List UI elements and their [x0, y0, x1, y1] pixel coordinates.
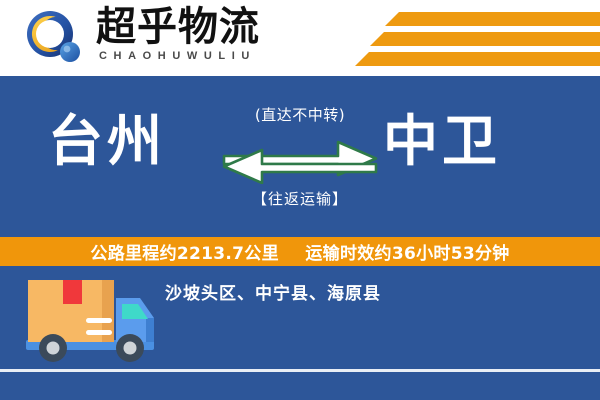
header: 超乎物流 CHAOHUWULIU	[0, 0, 600, 76]
brand-pinyin: CHAOHUWULIU	[99, 50, 256, 62]
round-trip-note: 【往返运输】	[218, 188, 382, 209]
direct-route-note: (直达不中转)	[218, 104, 382, 125]
info-bar: 公路里程约2213.7公里 运输时效约36小时53分钟	[0, 237, 600, 266]
info-bar-text: 公路里程约2213.7公里 运输时效约36小时53分钟	[90, 239, 509, 264]
header-stripe-2	[370, 32, 600, 46]
road-line-icon	[0, 369, 600, 372]
circle-crescent-logo-icon	[25, 10, 87, 66]
header-stripe-1	[385, 12, 600, 26]
route-middle: (直达不中转) 【往返运输】	[218, 104, 382, 229]
origin-city: 台州	[48, 109, 166, 173]
destination-city: 中卫	[383, 109, 501, 173]
header-stripe-3	[355, 52, 600, 66]
coverage-districts: 沙坡头区、中宁县、海原县	[165, 279, 381, 304]
brand-name: 超乎物流	[96, 6, 260, 48]
banner-body: 台州 (直达不中转) 【往返运输】 中卫 公路里程约2213.7公里	[0, 76, 600, 400]
route-row: 台州 (直达不中转) 【往返运输】 中卫	[0, 76, 600, 237]
distance-text: 公路里程约2213.7公里	[90, 244, 279, 264]
delivery-truck-icon	[18, 268, 168, 376]
bidirectional-arrow-icon	[220, 134, 380, 184]
logistics-route-banner: 超乎物流 CHAOHUWULIU 台州 (直达不中转) 【往返运输】	[0, 0, 600, 400]
duration-text: 运输时效约36小时53分钟	[305, 244, 509, 264]
